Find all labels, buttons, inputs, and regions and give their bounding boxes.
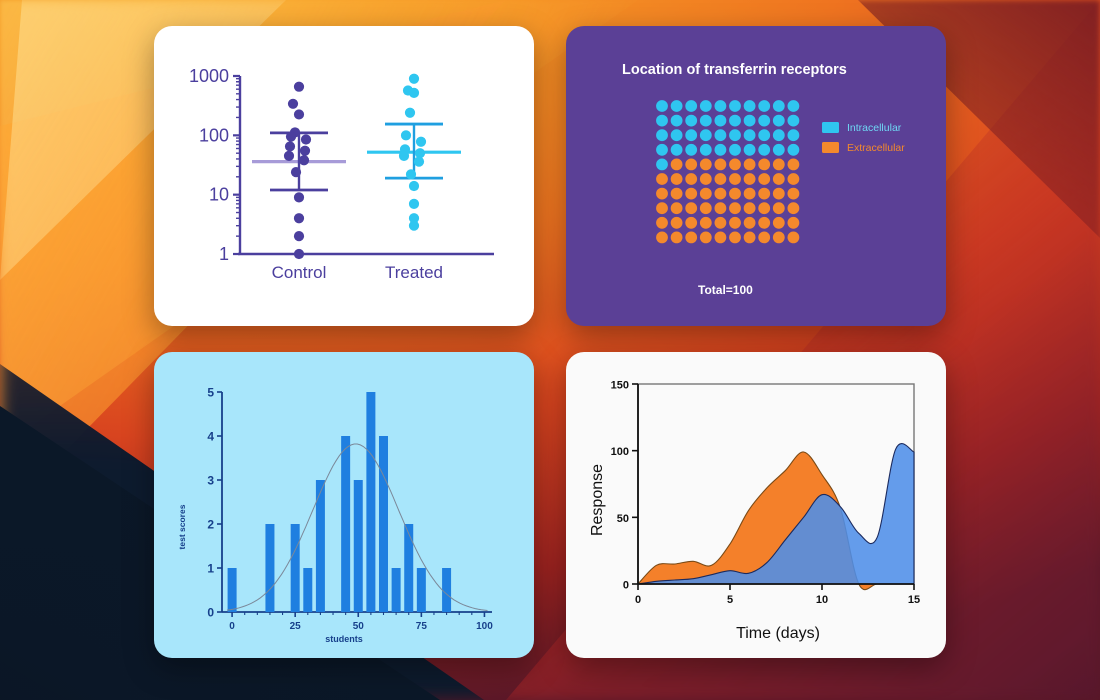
waffle-dot-extracellular	[656, 173, 668, 185]
waffle-dot-grid	[656, 100, 799, 243]
scatter-points	[252, 74, 461, 259]
waffle-dot-extracellular	[744, 173, 756, 185]
waffle-dot-extracellular	[729, 217, 741, 229]
waffle-dot-extracellular	[700, 173, 712, 185]
scatter-category-label: Control	[272, 263, 327, 282]
waffle-dot-extracellular	[773, 217, 785, 229]
scatter-data-point	[401, 130, 411, 140]
waffle-dot-extracellular	[788, 173, 800, 185]
waffle-dot-extracellular	[758, 173, 770, 185]
histogram-bar	[354, 480, 363, 612]
waffle-dot-intracellular	[729, 100, 741, 112]
waffle-dot-extracellular	[744, 217, 756, 229]
waffle-dot-extracellular	[758, 217, 770, 229]
scatter-y-tick-label: 10	[209, 185, 229, 205]
waffle-dot-extracellular	[729, 202, 741, 214]
scatter-y-tick-label: 100	[199, 125, 229, 145]
waffle-dot-extracellular	[744, 188, 756, 200]
scatter-category-label: Treated	[385, 263, 443, 282]
waffle-dot-extracellular	[729, 232, 741, 244]
scatter-data-point	[288, 99, 298, 109]
waffle-dot-intracellular	[729, 144, 741, 156]
waffle-dot-extracellular	[685, 217, 697, 229]
waffle-dot-extracellular	[788, 159, 800, 171]
waffle-dot-intracellular	[685, 115, 697, 127]
histogram-y-tick-label: 3	[207, 474, 214, 488]
waffle-dot-extracellular	[671, 202, 683, 214]
scatter-data-point	[285, 141, 295, 151]
waffle-dot-extracellular	[758, 232, 770, 244]
waffle-dot-intracellular	[715, 129, 727, 141]
histogram-y-tick-label: 2	[207, 518, 214, 532]
waffle-dot-intracellular	[773, 100, 785, 112]
scatter-data-point	[300, 146, 310, 156]
histogram-bar	[303, 568, 312, 612]
waffle-dot-extracellular	[729, 159, 741, 171]
waffle-dot-extracellular	[715, 159, 727, 171]
waffle-dot-intracellular	[656, 144, 668, 156]
waffle-dot-extracellular	[758, 159, 770, 171]
waffle-dot-intracellular	[685, 100, 697, 112]
waffle-dot-extracellular	[758, 202, 770, 214]
waffle-dot-extracellular	[758, 188, 770, 200]
scatter-y-tick-label: 1000	[189, 66, 229, 86]
histogram-y-tick-label: 0	[207, 606, 214, 620]
scatter-data-point	[286, 132, 296, 142]
area-x-axis-label: Time (days)	[736, 625, 820, 642]
scatter-data-point	[299, 155, 309, 165]
waffle-dot-intracellular	[656, 115, 668, 127]
scatter-category-labels: ControlTreated	[272, 263, 443, 282]
waffle-chart: Location of transferrin receptors Intrac…	[566, 26, 946, 326]
waffle-dot-extracellular	[656, 232, 668, 244]
histogram-card[interactable]: 0123450255075100 students test scores	[154, 352, 534, 658]
waffle-dot-intracellular	[773, 115, 785, 127]
waffle-dot-extracellular	[671, 217, 683, 229]
waffle-dot-extracellular	[788, 232, 800, 244]
waffle-dot-extracellular	[685, 173, 697, 185]
waffle-dot-extracellular	[773, 159, 785, 171]
waffle-dot-intracellular	[656, 159, 668, 171]
scatter-data-point	[399, 151, 409, 161]
waffle-dot-extracellular	[685, 202, 697, 214]
waffle-title: Location of transferrin receptors	[622, 62, 847, 78]
waffle-dot-extracellular	[773, 202, 785, 214]
waffle-legend-label: Intracellular	[847, 122, 902, 134]
scatter-data-point	[405, 108, 415, 118]
histogram-y-axis-label: test scores	[177, 504, 187, 549]
waffle-dot-intracellular	[788, 100, 800, 112]
waffle-dot-extracellular	[788, 188, 800, 200]
waffle-dot-extracellular	[788, 202, 800, 214]
waffle-dot-intracellular	[685, 144, 697, 156]
waffle-dot-extracellular	[671, 173, 683, 185]
histogram-bar	[379, 436, 388, 612]
waffle-dot-intracellular	[773, 144, 785, 156]
waffle-dot-intracellular	[788, 115, 800, 127]
waffle-dot-intracellular	[715, 115, 727, 127]
waffle-dot-extracellular	[685, 232, 697, 244]
scatter-data-point	[406, 169, 416, 179]
waffle-dot-extracellular	[671, 159, 683, 171]
histogram-bar	[392, 568, 401, 612]
waffle-dot-extracellular	[700, 217, 712, 229]
waffle-dot-intracellular	[758, 144, 770, 156]
histogram-x-tick-label: 0	[229, 621, 235, 632]
histogram-chart: 0123450255075100 students test scores	[154, 352, 534, 658]
scatter-data-point	[284, 151, 294, 161]
histogram-x-axis-label: students	[325, 634, 363, 644]
waffle-chart-card[interactable]: Location of transferrin receptors Intrac…	[566, 26, 946, 326]
desktop: 1101001000 ControlTreated Location of tr…	[0, 0, 1100, 700]
waffle-dot-extracellular	[773, 173, 785, 185]
waffle-dot-extracellular	[700, 188, 712, 200]
waffle-dot-extracellular	[715, 217, 727, 229]
waffle-dot-intracellular	[685, 129, 697, 141]
histogram-y-tick-label: 5	[207, 386, 214, 400]
waffle-dot-extracellular	[715, 232, 727, 244]
waffle-dot-extracellular	[715, 202, 727, 214]
waffle-dot-extracellular	[671, 232, 683, 244]
waffle-dot-extracellular	[700, 159, 712, 171]
waffle-dot-intracellular	[729, 115, 741, 127]
waffle-dot-extracellular	[715, 188, 727, 200]
histogram-x-tick-label: 75	[416, 621, 428, 632]
waffle-dot-extracellular	[685, 159, 697, 171]
scatter-dot-plot-card[interactable]: 1101001000 ControlTreated	[154, 26, 534, 326]
area-chart-card[interactable]: 050100150051015 Time (days) Response	[566, 352, 946, 658]
waffle-dot-extracellular	[656, 217, 668, 229]
scatter-data-point	[301, 134, 311, 144]
area-x-tick-label: 5	[727, 594, 733, 606]
scatter-data-point	[409, 199, 419, 209]
waffle-dot-intracellular	[744, 144, 756, 156]
scatter-data-point	[294, 249, 304, 259]
waffle-legend: IntracellularExtracellular	[822, 122, 905, 154]
histogram-bar	[341, 436, 350, 612]
waffle-legend-swatch	[822, 142, 839, 153]
scatter-axes: 1101001000	[189, 66, 494, 264]
scatter-data-point	[294, 213, 304, 223]
waffle-dot-intracellular	[715, 144, 727, 156]
area-y-tick-label: 0	[623, 580, 629, 592]
scatter-data-point	[294, 82, 304, 92]
scatter-data-point	[294, 109, 304, 119]
histogram-x-tick-label: 100	[476, 621, 493, 632]
waffle-dot-intracellular	[700, 115, 712, 127]
histogram-x-tick-label: 50	[353, 621, 365, 632]
scatter-dot-plot: 1101001000 ControlTreated	[154, 26, 534, 326]
scatter-data-point	[409, 88, 419, 98]
histogram-bar	[417, 568, 426, 612]
waffle-dot-extracellular	[685, 188, 697, 200]
waffle-dot-intracellular	[773, 129, 785, 141]
scatter-data-point	[409, 181, 419, 191]
waffle-dot-extracellular	[671, 188, 683, 200]
waffle-dot-intracellular	[671, 129, 683, 141]
area-y-axis-label: Response	[589, 464, 606, 536]
waffle-dot-intracellular	[700, 100, 712, 112]
waffle-dot-intracellular	[671, 115, 683, 127]
waffle-dot-intracellular	[758, 100, 770, 112]
waffle-dot-extracellular	[773, 188, 785, 200]
histogram-bar	[366, 392, 375, 612]
histogram-bars	[228, 392, 451, 612]
histogram-bar	[228, 568, 237, 612]
waffle-dot-intracellular	[758, 115, 770, 127]
waffle-dot-extracellular	[656, 202, 668, 214]
area-x-tick-label: 10	[816, 594, 828, 606]
waffle-dot-intracellular	[656, 129, 668, 141]
waffle-dot-extracellular	[744, 232, 756, 244]
waffle-dot-extracellular	[788, 217, 800, 229]
waffle-dot-intracellular	[700, 129, 712, 141]
waffle-dot-intracellular	[788, 144, 800, 156]
scatter-data-point	[294, 231, 304, 241]
waffle-dot-intracellular	[700, 144, 712, 156]
scatter-data-point	[409, 221, 419, 231]
scatter-data-point	[416, 137, 426, 147]
waffle-dot-intracellular	[744, 115, 756, 127]
waffle-dot-intracellular	[715, 100, 727, 112]
area-chart: 050100150051015 Time (days) Response	[566, 352, 946, 658]
area-y-tick-label: 50	[617, 513, 629, 525]
area-y-tick-label: 100	[611, 446, 629, 458]
histogram-bar	[291, 524, 300, 612]
waffle-legend-swatch	[822, 122, 839, 133]
waffle-dot-intracellular	[758, 129, 770, 141]
scatter-data-point	[291, 167, 301, 177]
area-y-tick-label: 150	[611, 380, 629, 392]
waffle-dot-extracellular	[729, 173, 741, 185]
waffle-dot-intracellular	[729, 129, 741, 141]
waffle-dot-extracellular	[700, 232, 712, 244]
waffle-dot-extracellular	[744, 159, 756, 171]
histogram-bar	[442, 568, 451, 612]
scatter-data-point	[294, 192, 304, 202]
scatter-y-tick-label: 1	[219, 244, 229, 264]
waffle-dot-intracellular	[744, 129, 756, 141]
waffle-dot-extracellular	[656, 188, 668, 200]
waffle-dot-intracellular	[671, 100, 683, 112]
area-x-tick-label: 0	[635, 594, 641, 606]
histogram-y-tick-label: 1	[207, 562, 214, 576]
waffle-dot-extracellular	[744, 202, 756, 214]
area-x-tick-label: 15	[908, 594, 920, 606]
waffle-legend-label: Extracellular	[847, 142, 905, 154]
scatter-data-point	[409, 74, 419, 84]
waffle-dot-extracellular	[700, 202, 712, 214]
waffle-dot-extracellular	[715, 173, 727, 185]
histogram-bar	[404, 524, 413, 612]
waffle-dot-extracellular	[773, 232, 785, 244]
waffle-dot-extracellular	[729, 188, 741, 200]
area-chart-series	[638, 444, 914, 590]
histogram-x-tick-label: 25	[290, 621, 302, 632]
histogram-y-tick-label: 4	[207, 430, 214, 444]
waffle-dot-intracellular	[744, 100, 756, 112]
waffle-dot-intracellular	[788, 129, 800, 141]
histogram-bar	[265, 524, 274, 612]
waffle-total-label: Total=100	[698, 283, 753, 297]
waffle-dot-intracellular	[671, 144, 683, 156]
waffle-dot-intracellular	[656, 100, 668, 112]
scatter-data-point	[414, 157, 424, 167]
